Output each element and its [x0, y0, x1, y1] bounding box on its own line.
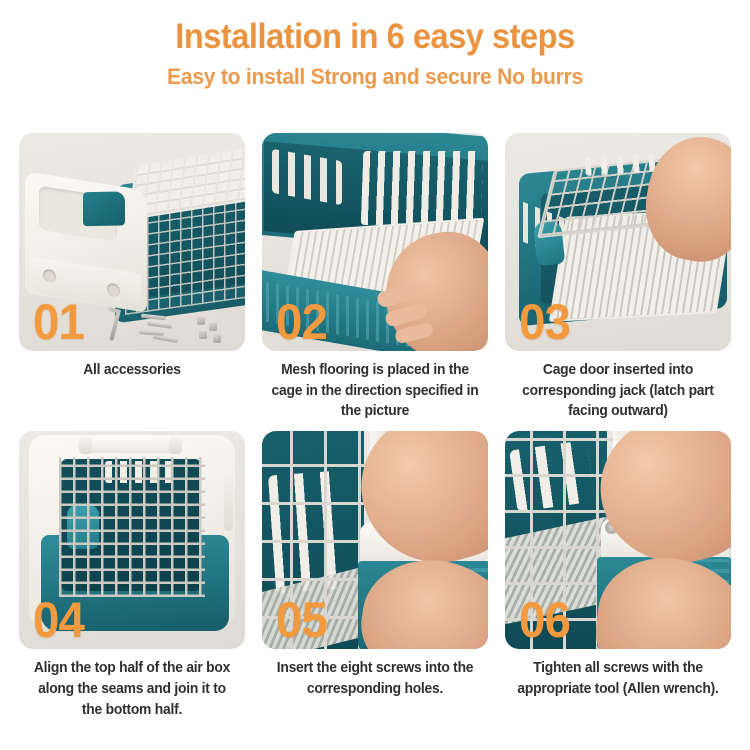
- step-number-03: 03: [519, 297, 570, 347]
- step-number-04: 04: [33, 595, 84, 645]
- header: Installation in 6 easy steps Easy to ins…: [0, 0, 750, 90]
- step-caption-02: Mesh flooring is placed in the cage in t…: [268, 360, 483, 422]
- screw: [139, 330, 164, 336]
- step-number-05: 05: [276, 595, 327, 645]
- screw-hole: [107, 282, 120, 297]
- vent-slots-right: [361, 151, 484, 225]
- step-card-05: 05 Insert the eight screws into the corr…: [262, 431, 488, 720]
- step-number-01: 01: [33, 297, 84, 347]
- screw-hole: [43, 268, 56, 283]
- handle-post: [169, 437, 182, 454]
- installation-infographic: Installation in 6 easy steps Easy to ins…: [0, 0, 750, 750]
- finger: [394, 322, 434, 345]
- nut: [199, 331, 207, 339]
- step-caption-05: Insert the eight screws into the corresp…: [268, 658, 483, 699]
- step-image-02: 02: [262, 133, 488, 351]
- nut: [209, 323, 217, 331]
- screw: [153, 335, 178, 343]
- steps-grid: 01 All accessories: [0, 133, 750, 720]
- nut: [197, 317, 205, 325]
- nut: [213, 335, 221, 343]
- screw-set: [137, 309, 237, 343]
- step-card-03: 03 Cage door inserted into corresponding…: [505, 133, 731, 422]
- step-image-01: 01: [19, 133, 245, 351]
- step-caption-03: Cage door inserted into corresponding ja…: [511, 360, 726, 422]
- step-card-01: 01 All accessories: [19, 133, 245, 422]
- wire-cage-door: [59, 457, 205, 597]
- step-card-06: 06 Tighten all screws with the appropria…: [505, 431, 731, 720]
- step-card-02: 02 Mesh flooring is placed in the cage i…: [262, 133, 488, 422]
- step-caption-04: Align the top half of the air box along …: [25, 658, 240, 720]
- step-caption-01: All accessories: [25, 360, 240, 381]
- handle-post: [79, 437, 92, 454]
- page-title: Installation in 6 easy steps: [26, 18, 724, 55]
- step-caption-06: Tighten all screws with the appropriate …: [511, 658, 726, 699]
- step-number-02: 02: [276, 297, 327, 347]
- step-image-03: 03: [505, 133, 731, 351]
- step-image-06: 06: [505, 431, 731, 649]
- page-subtitle: Easy to install Strong and secure No bur…: [23, 64, 728, 90]
- screw: [141, 314, 166, 321]
- step-image-05: 05: [262, 431, 488, 649]
- carrier-handle: [77, 437, 181, 453]
- carrier-handle-teal: [83, 191, 125, 226]
- screw: [147, 321, 172, 328]
- side-latch: [224, 469, 233, 531]
- step-number-06: 06: [519, 595, 570, 645]
- step-image-04: 04: [19, 431, 245, 649]
- step-card-04: 04 Align the top half of the air box alo…: [19, 431, 245, 720]
